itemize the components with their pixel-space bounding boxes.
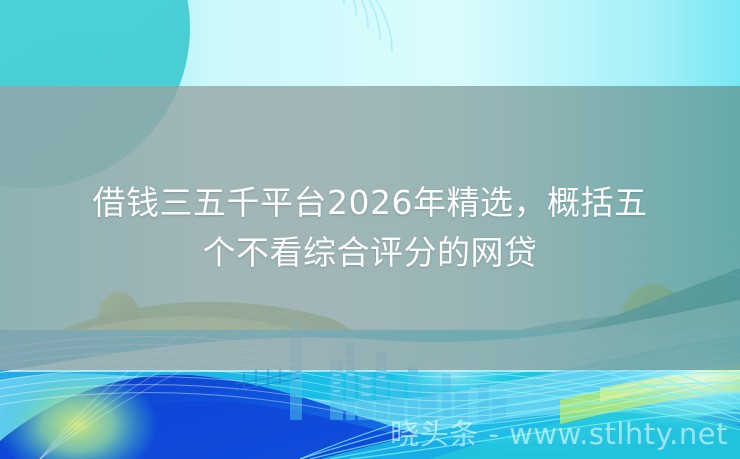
watermark-text: 晓头条 - www.stlhty.net: [390, 417, 728, 451]
title-line-1: 借钱三五千平台2026年精选，概括五: [93, 178, 648, 228]
title-line-2: 个不看综合评分的网贷: [203, 228, 538, 278]
poster-image: 借钱三五千平台2026年精选，概括五 个不看综合评分的网贷 晓头条 - www.…: [0, 0, 740, 459]
poster-title: 借钱三五千平台2026年精选，概括五 个不看综合评分的网贷: [0, 86, 740, 370]
